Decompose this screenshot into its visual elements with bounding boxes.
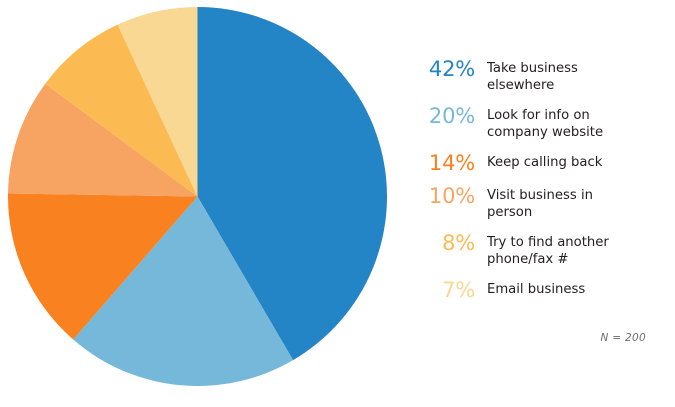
legend-label-line2: person	[487, 205, 667, 222]
legend-label-line1: Email business	[487, 282, 585, 297]
pie-chart-figure: 42% Take business elsewhere 20% Look for…	[0, 0, 675, 407]
legend-item-keep-calling-back[interactable]: 14% Keep calling back	[405, 152, 667, 174]
legend-label: Keep calling back	[475, 152, 667, 172]
sample-size-note: N = 200	[405, 332, 646, 344]
legend-item-visit-business-in-person[interactable]: 10% Visit business in person	[405, 185, 667, 221]
legend-item-look-for-info-on-company-website[interactable]: 20% Look for info on company website	[405, 105, 667, 141]
legend-label-line2: phone/fax #	[487, 252, 667, 269]
legend-label-line2: elsewhere	[487, 78, 667, 95]
legend: 42% Take business elsewhere 20% Look for…	[405, 58, 667, 312]
legend-label-line1: Look for info on	[487, 108, 590, 123]
legend-item-email-business[interactable]: 7% Email business	[405, 279, 667, 301]
legend-label: Take business elsewhere	[475, 58, 667, 94]
pie-svg	[8, 7, 387, 386]
legend-percent: 7%	[405, 279, 475, 301]
legend-percent: 14%	[405, 152, 475, 174]
legend-label: Visit business in person	[475, 185, 667, 221]
legend-item-take-business-elsewhere[interactable]: 42% Take business elsewhere	[405, 58, 667, 94]
legend-label: Email business	[475, 279, 667, 299]
legend-label-line1: Visit business in	[487, 188, 593, 203]
pie-slice-group	[8, 7, 387, 386]
legend-label: Look for info on company website	[475, 105, 667, 141]
legend-label-line1: Take business	[487, 61, 578, 76]
legend-label-line1: Try to find another	[487, 235, 609, 250]
legend-label-line1: Keep calling back	[487, 155, 602, 170]
legend-label-line2: company website	[487, 125, 667, 142]
legend-percent: 20%	[405, 105, 475, 127]
legend-percent: 10%	[405, 185, 475, 207]
legend-percent: 42%	[405, 58, 475, 80]
pie-chart-graphic	[8, 7, 387, 386]
legend-item-try-to-find-another-phone-fax[interactable]: 8% Try to find another phone/fax #	[405, 232, 667, 268]
legend-label: Try to find another phone/fax #	[475, 232, 667, 268]
legend-percent: 8%	[405, 232, 475, 254]
